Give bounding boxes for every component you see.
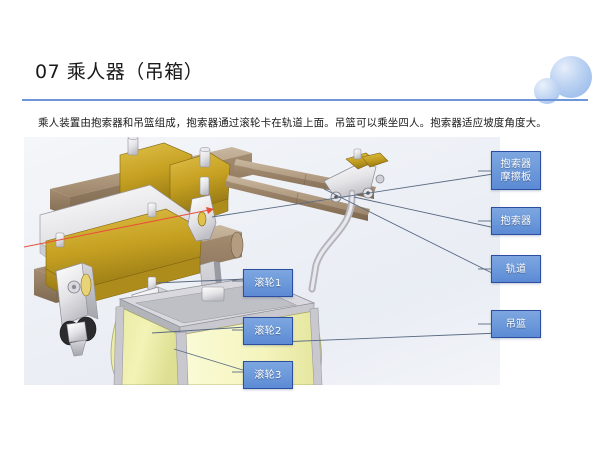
callout-grip-label: 抱索器 (501, 215, 532, 228)
callout-friction-plate-line1: 抱索器 (501, 158, 532, 171)
callout-roller-1-label: 滚轮1 (254, 277, 281, 290)
callout-cabin-label: 吊篮 (506, 318, 527, 331)
callout-roller-3-label: 滚轮3 (254, 369, 281, 382)
callout-track-label: 轨道 (506, 263, 527, 276)
callout-roller-1[interactable]: 滚轮1 (243, 269, 293, 297)
illustration-canvas (24, 137, 500, 385)
callout-roller-3[interactable]: 滚轮3 (243, 361, 293, 389)
callout-grip[interactable]: 抱索器 (491, 207, 541, 235)
slide-description: 乘人装置由抱索器和吊篮组成，抱索器通过滚轮卡在轨道上面。吊篮可以乘坐四人。抱索器… (38, 115, 568, 130)
callout-roller-2-label: 滚轮2 (254, 325, 281, 338)
title-divider (22, 99, 588, 101)
callout-cabin[interactable]: 吊篮 (491, 310, 541, 338)
callout-friction-plate-line2: 摩擦板 (501, 171, 532, 184)
callout-track[interactable]: 轨道 (491, 255, 541, 283)
roller-wheel-a (81, 274, 91, 296)
page-title: 07 乘人器（吊箱） (35, 57, 203, 84)
roller-assembly-1 (56, 263, 98, 356)
callout-roller-2[interactable]: 滚轮2 (243, 317, 293, 345)
callout-friction-plate[interactable]: 抱索器 摩擦板 (491, 151, 541, 190)
slide: 07 乘人器（吊箱） 乘人装置由抱索器和吊篮组成，抱索器通过滚轮卡在轨道上面。吊… (0, 0, 600, 450)
